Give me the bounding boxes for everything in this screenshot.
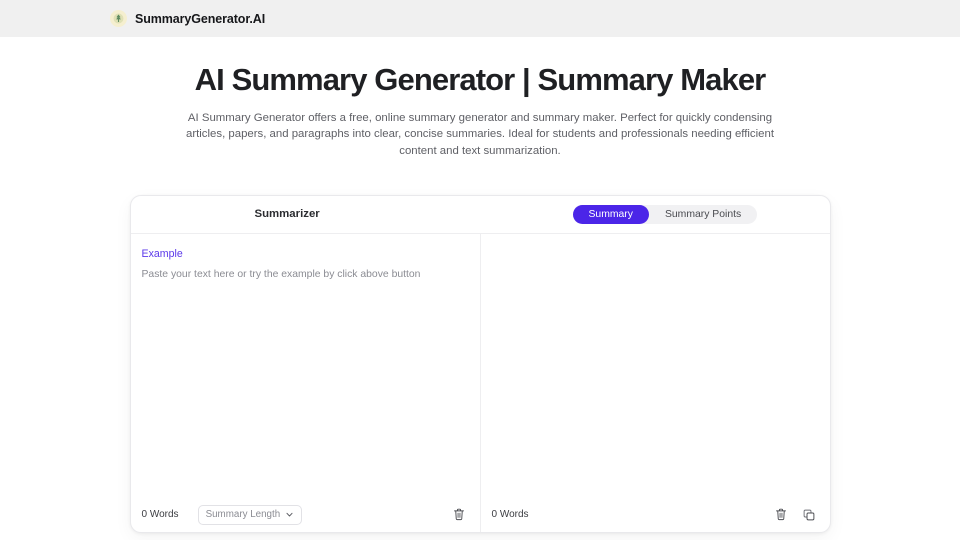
trash-icon — [453, 508, 465, 521]
chevron-down-icon — [285, 506, 294, 524]
output-word-count: 0 Words — [492, 509, 529, 520]
output-pane-footer: 0 Words — [481, 498, 830, 532]
example-link[interactable]: Example — [142, 248, 183, 260]
input-pane: Example Paste your text here or try the … — [131, 234, 481, 532]
summary-length-select[interactable]: Summary Length — [198, 505, 303, 525]
tab-summary[interactable]: Summary — [573, 205, 649, 224]
summarizer-card-wrapper: Summarizer Summary Summary Points Exampl… — [0, 195, 960, 533]
summary-length-label: Summary Length — [206, 509, 281, 520]
mode-tab-group: Summary Summary Points — [573, 205, 758, 224]
card-header: Summarizer Summary Summary Points — [131, 196, 830, 234]
output-pane: 0 Words — [481, 234, 830, 532]
output-clear-button[interactable] — [772, 506, 790, 524]
page-title: AI Summary Generator | Summary Maker — [0, 61, 960, 98]
tree-emoji-icon — [110, 10, 127, 27]
tab-summary-points[interactable]: Summary Points — [649, 205, 757, 224]
page-subtitle: AI Summary Generator offers a free, onli… — [169, 110, 791, 159]
output-copy-button[interactable] — [800, 506, 818, 524]
top-navigation-bar: SummaryGenerator.AI — [0, 0, 960, 37]
input-word-count: 0 Words — [142, 509, 179, 520]
input-placeholder-text: Paste your text here or try the example … — [142, 268, 468, 283]
output-text-area[interactable] — [481, 234, 830, 498]
hero-section: AI Summary Generator | Summary Maker AI … — [0, 37, 960, 159]
brand-name[interactable]: SummaryGenerator.AI — [135, 12, 265, 26]
input-editor-area[interactable]: Example Paste your text here or try the … — [131, 234, 480, 498]
input-pane-footer: 0 Words Summary Length — [131, 498, 480, 532]
input-clear-button[interactable] — [450, 506, 468, 524]
card-title: Summarizer — [255, 208, 320, 220]
summarizer-card: Summarizer Summary Summary Points Exampl… — [130, 195, 831, 533]
trash-icon — [775, 508, 787, 521]
card-body: Example Paste your text here or try the … — [131, 234, 830, 532]
copy-icon — [803, 509, 815, 521]
